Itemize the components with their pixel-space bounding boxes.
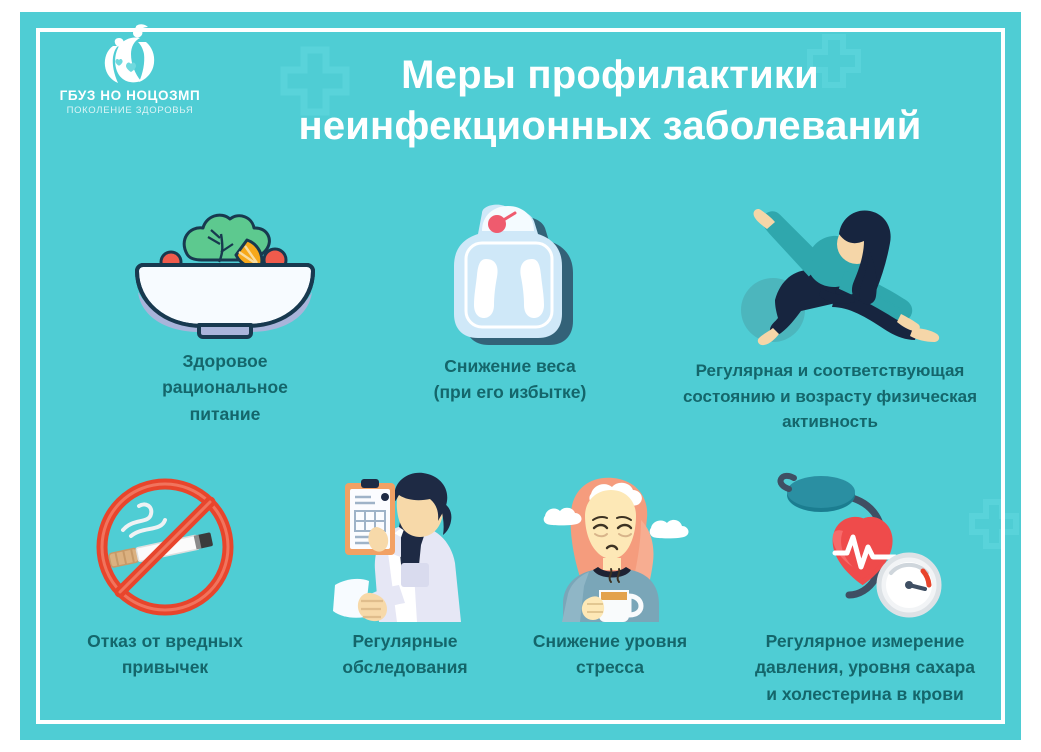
weight-scale-icon bbox=[375, 197, 645, 347]
prevention-item-no-bad-habits: Отказ от вредных привычек bbox=[35, 472, 295, 681]
logo-tagline: ПОКОЛЕНИЕ ЗДОРОВЬЯ bbox=[50, 106, 210, 117]
prevention-item-stress-reduction: Снижение уровня стресса bbox=[500, 472, 720, 681]
prevention-item-caption: Здоровое рациональное питание bbox=[85, 348, 365, 427]
prevention-item-regular-checkups: Регулярные обследования bbox=[290, 467, 520, 681]
prevention-item-caption: Регулярная и соответствующая состоянию и… bbox=[660, 358, 1000, 435]
prevention-item-physical-activity: Регулярная и соответствующая состоянию и… bbox=[660, 182, 1000, 435]
prevention-item-caption: Снижение веса (при его избытке) bbox=[375, 353, 645, 406]
stretching-woman-icon bbox=[660, 182, 1000, 352]
stressed-woman-icon bbox=[500, 472, 720, 622]
no-smoking-icon bbox=[35, 472, 295, 622]
blood-pressure-monitor-icon bbox=[720, 467, 1010, 622]
page-title: Меры профилактики неинфекционных заболев… bbox=[220, 50, 1000, 152]
prevention-item-caption: Регулярное измерение давления, уровня са… bbox=[720, 628, 1010, 707]
organization-logo: ГБУЗ НО НОЦОЗМП ПОКОЛЕНИЕ ЗДОРОВЬЯ bbox=[50, 24, 210, 116]
prevention-item-weight-loss: Снижение веса (при его избытке) bbox=[375, 197, 645, 406]
prevention-item-healthy-nutrition: Здоровое рациональное питание bbox=[85, 192, 365, 427]
prevention-item-caption: Отказ от вредных привычек bbox=[35, 628, 295, 681]
people-health-logo-icon bbox=[93, 24, 167, 86]
salad-bowl-icon bbox=[85, 192, 365, 342]
prevention-item-caption: Снижение уровня стресса bbox=[500, 628, 720, 681]
poster: ГБУЗ НО НОЦОЗМП ПОКОЛЕНИЕ ЗДОРОВЬЯ Меры … bbox=[20, 12, 1021, 740]
prevention-item-blood-pressure-monitoring: Регулярное измерение давления, уровня са… bbox=[720, 467, 1010, 707]
logo-organization-name: ГБУЗ НО НОЦОЗМП bbox=[50, 88, 210, 104]
page-title-line-2: неинфекционных заболеваний bbox=[220, 101, 1000, 152]
prevention-item-caption: Регулярные обследования bbox=[290, 628, 520, 681]
doctor-clipboard-icon bbox=[290, 467, 520, 622]
page-title-line-1: Меры профилактики bbox=[220, 50, 1000, 101]
